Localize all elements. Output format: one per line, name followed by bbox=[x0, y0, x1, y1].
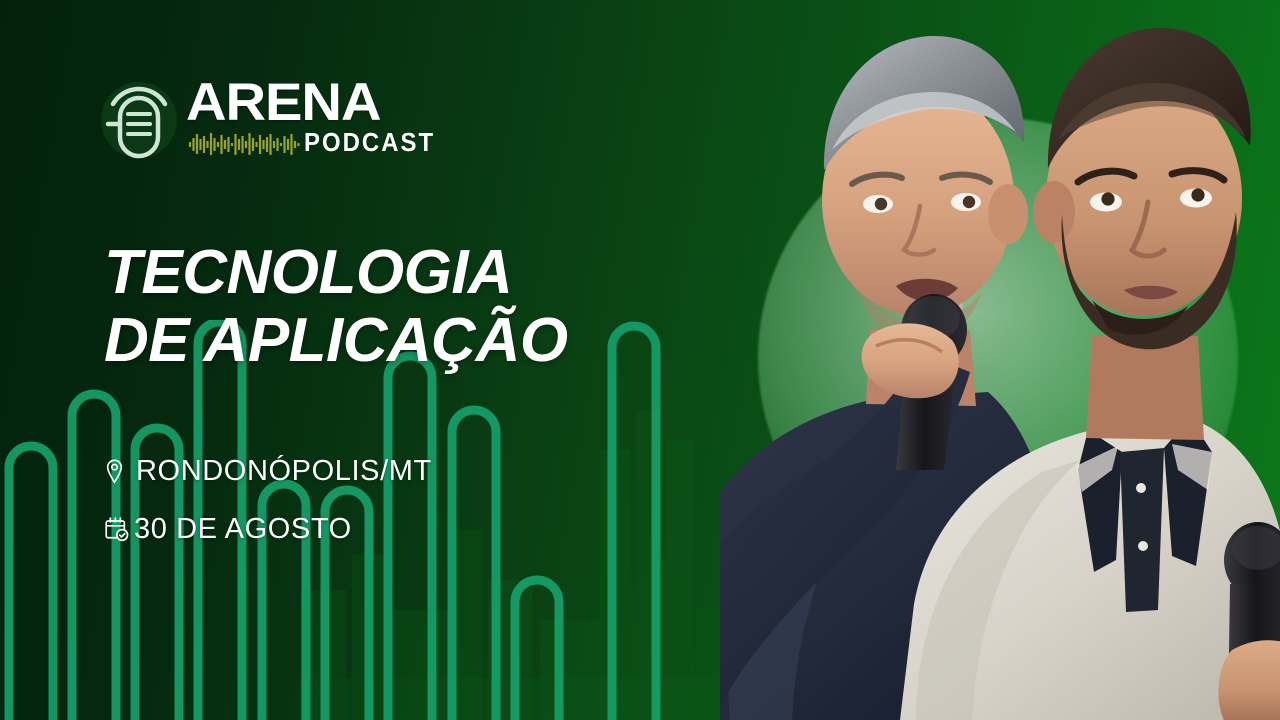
map-pin-icon bbox=[104, 454, 136, 488]
brand-logo[interactable]: ARENA bbox=[100, 70, 410, 170]
event-location: RONDONÓPOLIS/MT bbox=[104, 447, 624, 495]
brand-subtitle: PODCAST bbox=[304, 128, 435, 158]
page-title: TECNOLOGIA DE APLICAÇÃO bbox=[104, 239, 744, 374]
event-date: 30 DE AGOSTO bbox=[104, 505, 624, 553]
microphone-icon bbox=[100, 72, 178, 168]
calendar-check-icon bbox=[104, 512, 134, 546]
event-details: RONDONÓPOLIS/MT 30 DE AGOSTO bbox=[104, 447, 624, 553]
two-speakers-with-microphones-photo bbox=[720, 0, 1280, 720]
event-date-label: 30 DE AGOSTO bbox=[134, 513, 352, 546]
promo-banner: ARENA bbox=[0, 0, 1280, 720]
page-title-line-2: DE APLICAÇÃO bbox=[104, 307, 744, 375]
event-location-label: RONDONÓPOLIS/MT bbox=[136, 455, 432, 488]
brand-name: ARENA bbox=[186, 76, 380, 129]
page-title-line-1: TECNOLOGIA bbox=[104, 239, 744, 307]
audio-waveform-icon bbox=[188, 132, 301, 156]
